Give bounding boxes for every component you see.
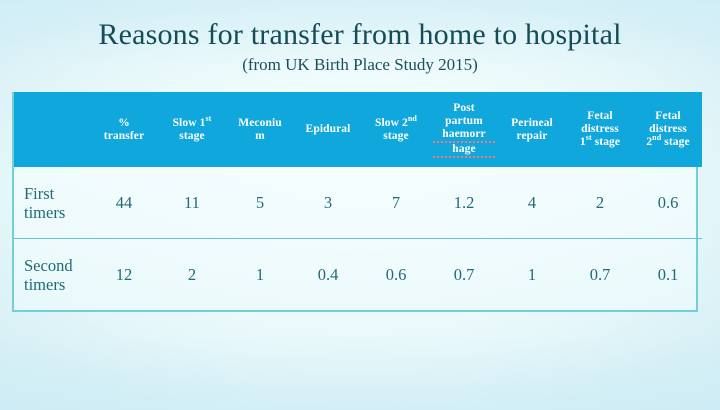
table-row: First timers 44 11 5 3 7 1.2 4 2 0.6	[14, 167, 702, 239]
header-line-1: Slow 1st	[161, 117, 223, 130]
header-line-4-misspelled: hage	[433, 143, 495, 158]
cell-first-slow-second-stage: 7	[362, 167, 430, 239]
column-header-percent-transfer: % transfer	[90, 92, 158, 167]
cell-second-post-partum-haemorrhage: 0.7	[430, 239, 498, 311]
header-line-1: Fetal	[637, 110, 699, 123]
row-label-line-1: Second	[24, 256, 88, 275]
slide-canvas: Reasons for transfer from home to hospit…	[0, 0, 720, 410]
header-line-2: stage	[365, 130, 427, 143]
cell-second-epidural: 0.4	[294, 239, 362, 311]
header-line-1: Post	[433, 102, 495, 115]
column-header-post-partum-haemorrhage: Post partum haemorr hage	[430, 92, 498, 167]
page-subtitle: (from UK Birth Place Study 2015)	[0, 54, 720, 76]
column-header-meconium: Meconiu m	[226, 92, 294, 167]
ordinal-suffix: nd	[652, 133, 661, 142]
column-header-fetal-distress-first-stage: Fetal distress 1st stage	[566, 92, 634, 167]
row-label-second-timers: Second timers	[14, 239, 90, 311]
header-line-2: distress	[637, 123, 699, 136]
page-title: Reasons for transfer from home to hospit…	[0, 18, 720, 52]
transfer-reasons-table-container: % transfer Slow 1st stage Meconiu m Epid…	[12, 92, 698, 312]
cell-first-fetal-distress-second-stage: 0.6	[634, 167, 702, 239]
row-label-line-1: First	[24, 184, 88, 203]
header-line-2: transfer	[93, 130, 155, 143]
header-line-2: distress	[569, 123, 631, 136]
row-label-line-2: timers	[24, 203, 88, 222]
cell-first-epidural: 3	[294, 167, 362, 239]
cell-first-perineal-repair: 4	[498, 167, 566, 239]
ordinal-suffix: st	[586, 133, 592, 142]
table-row: Second timers 12 2 1 0.4 0.6 0.7 1 0.7 0…	[14, 239, 702, 311]
cell-second-slow-second-stage: 0.6	[362, 239, 430, 311]
header-line-1: Meconiu	[229, 117, 291, 130]
header-line-3: 2nd stage	[637, 136, 699, 149]
cell-first-fetal-distress-first-stage: 2	[566, 167, 634, 239]
table-header-row: % transfer Slow 1st stage Meconiu m Epid…	[14, 92, 702, 167]
cell-first-slow-first-stage: 11	[158, 167, 226, 239]
header-line-1: Epidural	[297, 123, 359, 136]
cell-first-post-partum-haemorrhage: 1.2	[430, 167, 498, 239]
title-block: Reasons for transfer from home to hospit…	[0, 18, 720, 76]
column-header-fetal-distress-second-stage: Fetal distress 2nd stage	[634, 92, 702, 167]
header-line-1: %	[93, 117, 155, 130]
ordinal-suffix: st	[205, 114, 211, 123]
ordinal-suffix: nd	[408, 114, 417, 123]
header-line-1: Perineal	[501, 117, 563, 130]
transfer-reasons-table: % transfer Slow 1st stage Meconiu m Epid…	[14, 92, 702, 310]
header-line-2: repair	[501, 130, 563, 143]
column-header-perineal-repair: Perineal repair	[498, 92, 566, 167]
header-line-3-misspelled: haemorr	[433, 128, 495, 143]
cell-second-perineal-repair: 1	[498, 239, 566, 311]
cell-first-meconium: 5	[226, 167, 294, 239]
cell-second-percent-transfer: 12	[90, 239, 158, 311]
row-label-line-2: timers	[24, 275, 88, 294]
cell-second-slow-first-stage: 2	[158, 239, 226, 311]
row-label-first-timers: First timers	[14, 167, 90, 239]
cell-second-fetal-distress-first-stage: 0.7	[566, 239, 634, 311]
header-line-2: stage	[161, 130, 223, 143]
header-line-2: m	[229, 130, 291, 143]
cell-first-percent-transfer: 44	[90, 167, 158, 239]
column-header-epidural: Epidural	[294, 92, 362, 167]
column-header-slow-second-stage: Slow 2nd stage	[362, 92, 430, 167]
header-line-2: partum	[433, 115, 495, 128]
column-header-row-label	[14, 92, 90, 167]
cell-second-meconium: 1	[226, 239, 294, 311]
header-line-3: 1st stage	[569, 136, 631, 149]
header-line-1: Slow 2nd	[365, 117, 427, 130]
header-line-1: Fetal	[569, 110, 631, 123]
column-header-slow-first-stage: Slow 1st stage	[158, 92, 226, 167]
cell-second-fetal-distress-second-stage: 0.1	[634, 239, 702, 311]
